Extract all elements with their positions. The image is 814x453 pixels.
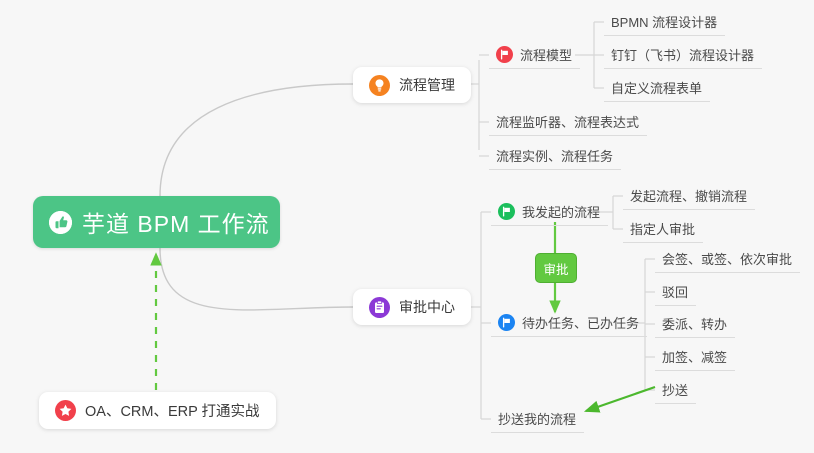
mindmap-canvas: 芋道 BPM 工作流 流程管理 流程模型 BPMN 流程设计器 钉钉（飞书	[0, 0, 814, 453]
branch-approval-center-label: 审批中心	[399, 297, 455, 317]
node-delegate-transfer-label: 委派、转办	[662, 314, 727, 333]
annotation-approval-label: 审批	[543, 259, 568, 278]
node-todo-done[interactable]: 待办任务、已办任务	[491, 309, 647, 337]
node-bpmn-designer-label: BPMN 流程设计器	[611, 12, 717, 31]
node-cc-to-me[interactable]: 抄送我的流程	[491, 405, 584, 433]
node-cc-to-me-label: 抄送我的流程	[498, 409, 576, 428]
arrow-cc-to-ccmine	[586, 387, 655, 411]
node-instance-task-label: 流程实例、流程任务	[496, 146, 613, 165]
link-root-to-process	[160, 84, 353, 196]
bottom-note-label: OA、CRM、ERP 打通实战	[85, 400, 260, 421]
node-multi-approval[interactable]: 会签、或签、依次审批	[655, 245, 800, 273]
node-assigned-approval[interactable]: 指定人审批	[623, 215, 703, 243]
node-listener-expression[interactable]: 流程监听器、流程表达式	[489, 108, 647, 136]
star-icon	[55, 400, 76, 421]
node-multi-approval-label: 会签、或签、依次审批	[662, 249, 792, 268]
node-my-started[interactable]: 我发起的流程	[491, 198, 608, 226]
node-reject[interactable]: 驳回	[655, 278, 696, 306]
node-instance-task[interactable]: 流程实例、流程任务	[489, 142, 621, 170]
node-cc[interactable]: 抄送	[655, 376, 696, 404]
link-root-to-approval	[160, 248, 353, 310]
node-process-model[interactable]: 流程模型	[489, 41, 580, 69]
node-assigned-approval-label: 指定人审批	[630, 219, 695, 238]
node-custom-form[interactable]: 自定义流程表单	[604, 74, 710, 102]
thumbs-up-icon	[49, 211, 72, 234]
branch-process-management[interactable]: 流程管理	[353, 67, 471, 103]
lightbulb-icon	[369, 75, 390, 96]
flag-icon	[498, 203, 515, 220]
node-dingtalk-designer-label: 钉钉（飞书）流程设计器	[611, 45, 754, 64]
node-todo-done-label: 待办任务、已办任务	[522, 313, 639, 332]
node-add-remove-sign[interactable]: 加签、减签	[655, 343, 735, 371]
node-add-remove-sign-label: 加签、减签	[662, 347, 727, 366]
node-start-cancel-label: 发起流程、撤销流程	[630, 186, 747, 205]
node-my-started-label: 我发起的流程	[522, 202, 600, 221]
root-node[interactable]: 芋道 BPM 工作流	[33, 196, 280, 248]
node-bpmn-designer[interactable]: BPMN 流程设计器	[604, 8, 725, 36]
annotation-approval-chip: 审批	[535, 253, 577, 283]
node-custom-form-label: 自定义流程表单	[611, 78, 702, 97]
root-label: 芋道 BPM 工作流	[82, 205, 270, 239]
node-start-cancel[interactable]: 发起流程、撤销流程	[623, 182, 755, 210]
flag-icon	[498, 314, 515, 331]
flag-icon	[496, 46, 513, 63]
clipboard-icon	[369, 297, 390, 318]
bottom-note-node[interactable]: OA、CRM、ERP 打通实战	[39, 392, 276, 429]
node-process-model-label: 流程模型	[520, 45, 572, 64]
node-delegate-transfer[interactable]: 委派、转办	[655, 310, 735, 338]
node-listener-expression-label: 流程监听器、流程表达式	[496, 112, 639, 131]
node-reject-label: 驳回	[662, 282, 688, 301]
branch-approval-center[interactable]: 审批中心	[353, 289, 471, 325]
node-cc-label: 抄送	[662, 380, 688, 399]
branch-process-management-label: 流程管理	[399, 75, 455, 95]
node-dingtalk-designer[interactable]: 钉钉（飞书）流程设计器	[604, 41, 762, 69]
